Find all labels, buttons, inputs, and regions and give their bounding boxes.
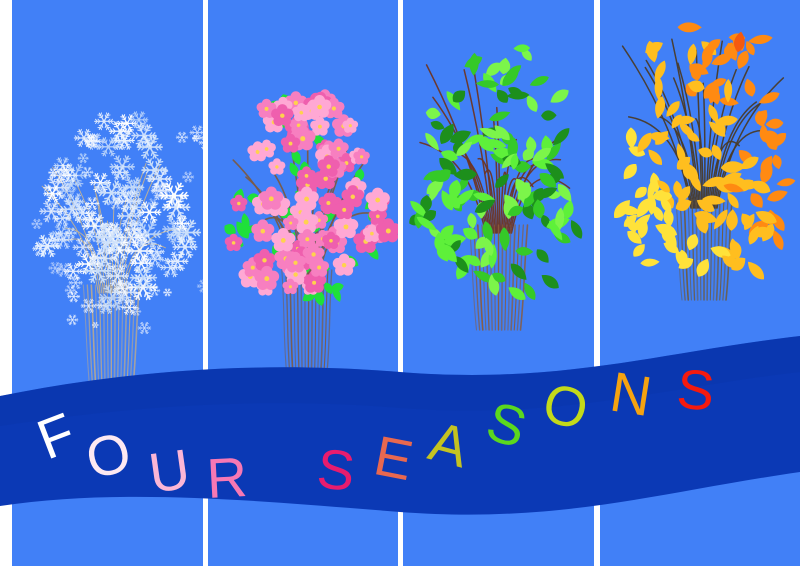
summer-tree bbox=[403, 0, 594, 566]
poster-canvas: FOURSEASONS bbox=[0, 0, 800, 566]
spring-tree bbox=[208, 0, 398, 566]
autumn-tree bbox=[600, 0, 800, 566]
spring-panel[interactable] bbox=[208, 0, 398, 566]
autumn-panel[interactable] bbox=[600, 0, 800, 566]
winter-panel[interactable] bbox=[12, 0, 203, 566]
winter-tree bbox=[12, 0, 203, 566]
summer-panel[interactable] bbox=[403, 0, 594, 566]
